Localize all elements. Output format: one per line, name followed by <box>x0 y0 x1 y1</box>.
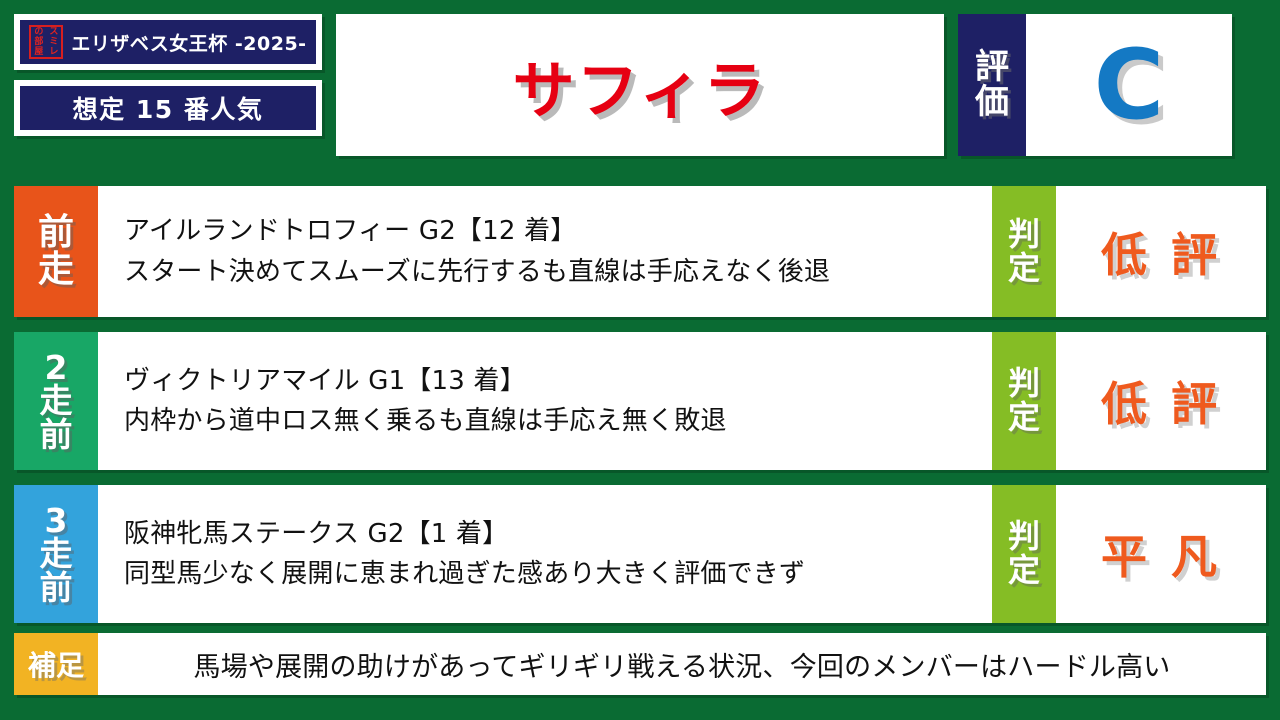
header-left-plates: の ス 部 ミ 屋 レ エリザベス女王杯 -2025- 想定 15 番人気 <box>0 0 322 136</box>
race-comment-line: 同型馬少なく展開に恵まれ過ぎた感あり大きく評価できず <box>124 554 992 594</box>
stamp-char: 屋 <box>31 47 46 57</box>
row-body: 阪神牝馬ステークス G2【1 着】 同型馬少なく展開に恵まれ過ぎた感あり大きく評… <box>98 485 992 623</box>
row-body: アイルランドトロフィー G2【12 着】 スタート決めてスムーズに先行するも直線… <box>98 186 992 317</box>
table-row: 前 走 アイルランドトロフィー G2【12 着】 スタート決めてスムーズに先行す… <box>14 186 1266 317</box>
popularity-text: 想定 15 番人気 <box>73 90 264 126</box>
race-title-plate: の ス 部 ミ 屋 レ エリザベス女王杯 -2025- <box>14 14 322 70</box>
table-row: 2 走 前 ヴィクトリアマイル G1【13 着】 内枠から道中ロス無く乗るも直線… <box>14 332 1266 470</box>
stamp-char: の <box>31 27 46 37</box>
rating-grade: C <box>1026 14 1232 156</box>
row-tag-three-races-ago: 3 走 前 <box>14 485 98 623</box>
row-tag-two-races-ago: 2 走 前 <box>14 332 98 470</box>
stamp-char: レ <box>46 47 61 57</box>
horse-name-text: サフィラ <box>513 40 768 130</box>
race-name-line: 阪神牝馬ステークス G2【1 着】 <box>124 514 992 554</box>
judge-value: 低 評 <box>1056 332 1266 470</box>
row-tag-char: 前 <box>40 571 73 605</box>
judge-label-char: 定 <box>1008 401 1040 435</box>
row-tag-char: 前 <box>40 418 73 452</box>
row-tag-char: 走 <box>40 537 73 571</box>
stamp-char: ミ <box>46 37 61 47</box>
judge-label: 判 定 <box>992 332 1056 470</box>
stamp-char: ス <box>46 27 61 37</box>
judge-label: 判 定 <box>992 186 1056 317</box>
table-row: 3 走 前 阪神牝馬ステークス G2【1 着】 同型馬少なく展開に恵まれ過ぎた感… <box>14 485 1266 623</box>
popularity-plate: 想定 15 番人気 <box>14 80 322 136</box>
stamp-char: 部 <box>31 37 46 47</box>
horse-name-panel: サフィラ <box>336 14 944 156</box>
row-tag-char: 2 <box>45 351 68 385</box>
judge-label-char: 判 <box>1008 218 1040 252</box>
supplement-row: 補足 馬場や展開の助けがあってギリギリ戦える状況、今回のメンバーはハードル高い <box>14 633 1266 695</box>
row-tag-char: 走 <box>40 384 73 418</box>
race-title-band: の ス 部 ミ 屋 レ エリザベス女王杯 -2025- <box>20 20 316 64</box>
rating-label: 評 価 <box>958 14 1026 156</box>
row-tag-char: 走 <box>38 252 74 289</box>
judge-label-char: 判 <box>1008 367 1040 401</box>
race-comment-line: 内枠から道中ロス無く乗るも直線は手応え無く敗退 <box>124 401 992 441</box>
race-name-line: ヴィクトリアマイル G1【13 着】 <box>124 361 992 401</box>
card-header: の ス 部 ミ 屋 レ エリザベス女王杯 -2025- 想定 15 番人気 サフ… <box>0 0 1280 170</box>
judge-value: 平 凡 <box>1056 485 1266 623</box>
rating-panel: 評 価 C <box>958 14 1232 156</box>
popularity-band: 想定 15 番人気 <box>20 86 316 130</box>
race-comment-line: スタート決めてスムーズに先行するも直線は手応えなく後退 <box>124 252 992 292</box>
race-title-text: エリザベス女王杯 -2025- <box>71 29 306 56</box>
row-tag-previous-race: 前 走 <box>14 186 98 317</box>
judge-value: 低 評 <box>1056 186 1266 317</box>
race-evaluation-card: の ス 部 ミ 屋 レ エリザベス女王杯 -2025- 想定 15 番人気 サフ… <box>0 0 1280 720</box>
row-tag-char: 前 <box>38 215 74 252</box>
supplement-tag: 補足 <box>14 633 98 695</box>
judge-label-char: 定 <box>1008 554 1040 588</box>
row-body: ヴィクトリアマイル G1【13 着】 内枠から道中ロス無く乗るも直線は手応え無く… <box>98 332 992 470</box>
rating-label-char: 価 <box>975 85 1009 120</box>
race-name-line: アイルランドトロフィー G2【12 着】 <box>124 211 992 251</box>
supplement-text: 馬場や展開の助けがあってギリギリ戦える状況、今回のメンバーはハードル高い <box>98 633 1266 695</box>
judge-label: 判 定 <box>992 485 1056 623</box>
rating-label-char: 評 <box>975 50 1009 85</box>
sumire-no-heya-stamp-icon: の ス 部 ミ 屋 レ <box>29 25 63 59</box>
judge-label-char: 定 <box>1008 252 1040 286</box>
judge-label-char: 判 <box>1008 520 1040 554</box>
row-tag-char: 3 <box>45 504 68 538</box>
